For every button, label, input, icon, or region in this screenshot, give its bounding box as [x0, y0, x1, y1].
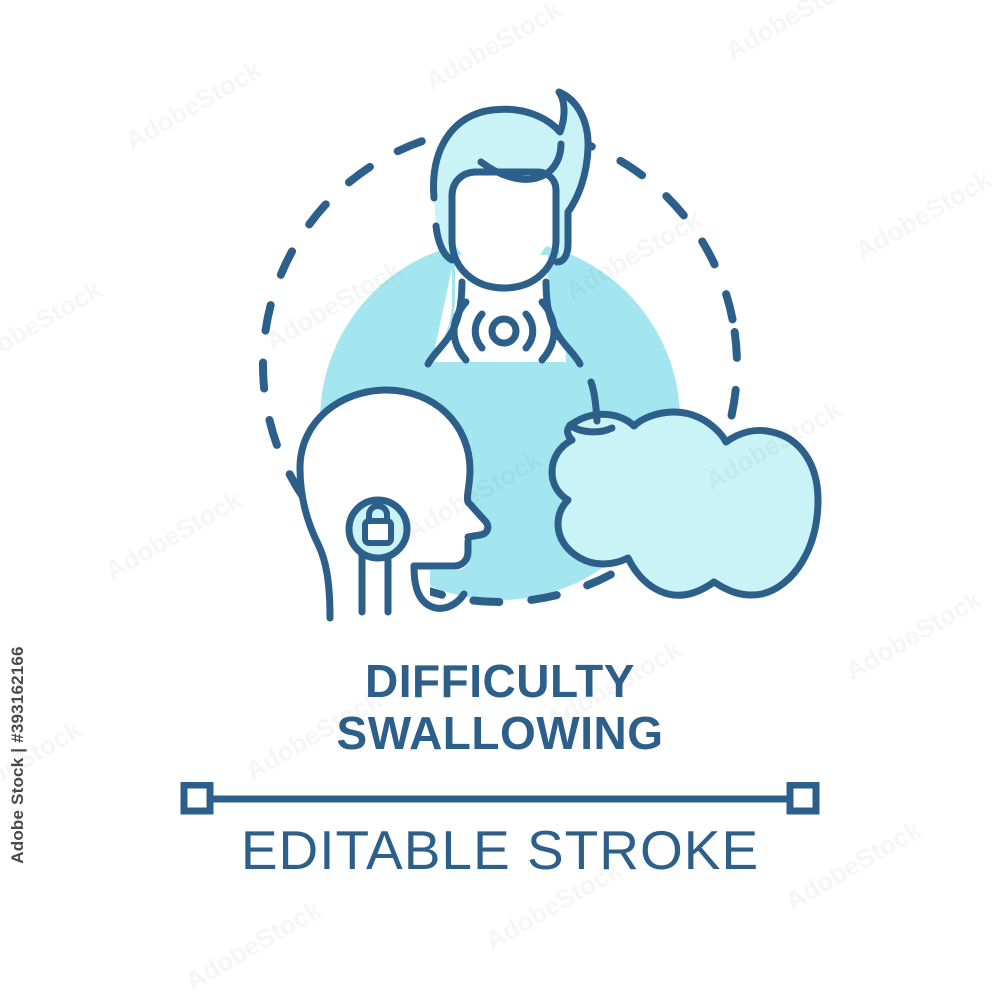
page-title: DIFFICULTY SWALLOWING [0, 655, 1000, 759]
bitten-apple [552, 382, 818, 595]
divider [180, 782, 820, 816]
title-line-1: DIFFICULTY [0, 655, 1000, 707]
caption: EDITABLE STROKE [0, 818, 1000, 882]
canvas: DIFFICULTY SWALLOWING EDITABLE STROKE Ad… [0, 0, 1000, 1000]
caption-text: EDITABLE STROKE [0, 818, 1000, 882]
lock-body-icon [365, 521, 391, 543]
watermark-side-label: Adobe Stock | #393162166 [8, 625, 28, 885]
divider-handle-left[interactable] [184, 785, 210, 811]
title-line-2: SWALLOWING [0, 707, 1000, 759]
divider-handle-right[interactable] [790, 785, 816, 811]
lock-badge-icon [349, 500, 407, 558]
